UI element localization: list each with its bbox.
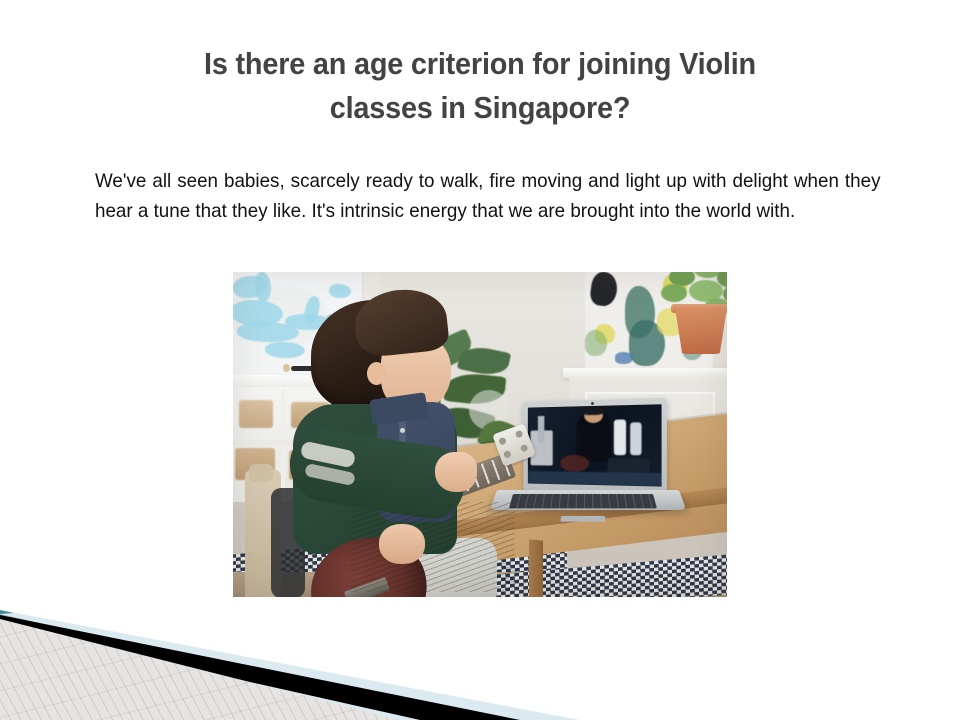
map-water-shape [329,284,351,298]
artwork-shape [589,272,619,308]
content-photo [233,272,727,597]
chair-backrest [249,464,273,482]
laptop-keyboard [509,494,657,508]
shirt-button [400,428,405,433]
laptop-lid [523,398,667,496]
body-paragraph: We've all seen babies, scarcely ready to… [95,166,881,226]
laptop-screen [528,404,662,486]
laptop [491,400,681,542]
tuning-peg [498,437,507,446]
artwork-shape [615,352,633,364]
boy-strumming-hand [379,524,425,564]
laptop-trackpad [561,516,606,522]
tuning-peg [515,430,524,439]
webcam-icon [591,402,594,405]
video-call-teacher-hair [583,406,604,416]
boy-figure [259,342,489,597]
tuning-peg [520,444,529,453]
photo-scene [233,272,727,597]
plant-leaf [661,284,687,302]
artwork-shape [585,330,607,356]
video-call-guitar [630,423,641,456]
video-call-guitar [614,420,626,455]
tuning-peg [503,450,512,459]
slide-canvas: Is there an age criterion for joining Vi… [0,0,960,720]
video-call-mic-stand [538,416,544,442]
corner-decoration [0,570,960,720]
mantel-shelf [563,368,727,378]
boy-ear [367,362,386,385]
map-water-shape [255,272,271,302]
page-title: Is there an age criterion for joining Vi… [123,42,837,130]
boy-fretting-hand [435,452,477,492]
terracotta-pot [675,308,727,354]
video-call-floor [528,471,662,486]
